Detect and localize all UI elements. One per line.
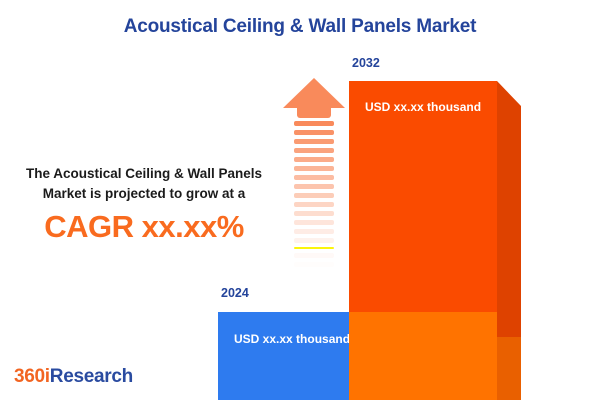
bar-2032-year-label: 2032 xyxy=(352,56,380,70)
logo-text-360i: 360i xyxy=(14,366,50,387)
arrow-stripe xyxy=(294,121,334,126)
arrow-stripe xyxy=(294,130,334,135)
bar-2024-value-label: USD xx.xx thousand xyxy=(234,332,350,346)
arrow-stripe xyxy=(294,166,334,171)
arrow-neck xyxy=(297,107,331,118)
arrow-stripe xyxy=(294,229,334,234)
arrow-stripe xyxy=(294,148,334,153)
cagr-statement-line-1: The Acoustical Ceiling & Wall Panels xyxy=(8,164,280,184)
arrow-stripe xyxy=(294,253,334,258)
cagr-statement-text: The Acoustical Ceiling & Wall Panels Mar… xyxy=(8,164,280,203)
arrow-stripe xyxy=(294,211,334,216)
arrow-head-icon xyxy=(283,78,345,108)
bar-2032-front-face-lower xyxy=(349,312,497,400)
bar-2024-year-label: 2024 xyxy=(221,286,249,300)
cagr-statement-block: The Acoustical Ceiling & Wall Panels Mar… xyxy=(8,164,280,244)
logo-text-research: Research xyxy=(50,366,133,387)
cagr-statement-line-2: Market is projected to grow at a xyxy=(8,184,280,204)
arrow-stripe xyxy=(294,184,334,189)
arrow-stripe xyxy=(294,175,334,180)
bar-2032-side-face-lower xyxy=(497,337,521,400)
arrow-stripe xyxy=(294,157,334,162)
upward-growth-arrow xyxy=(283,78,345,288)
arrow-stripe xyxy=(294,220,334,225)
cagr-value: CAGR xx.xx% xyxy=(8,211,280,244)
brand-logo[interactable]: 360iResearch xyxy=(14,366,133,388)
bar-2032-value-label: USD xx.xx thousand xyxy=(365,100,481,114)
arrow-stripe xyxy=(294,238,334,243)
arrow-stripe xyxy=(294,202,334,207)
arrow-stripe-highlight xyxy=(294,247,334,249)
page-title: Acoustical Ceiling & Wall Panels Market xyxy=(0,16,600,38)
arrow-stripe xyxy=(294,262,334,267)
arrow-stripe xyxy=(294,193,334,198)
arrow-stripe xyxy=(294,139,334,144)
arrow-stripes xyxy=(294,121,334,288)
